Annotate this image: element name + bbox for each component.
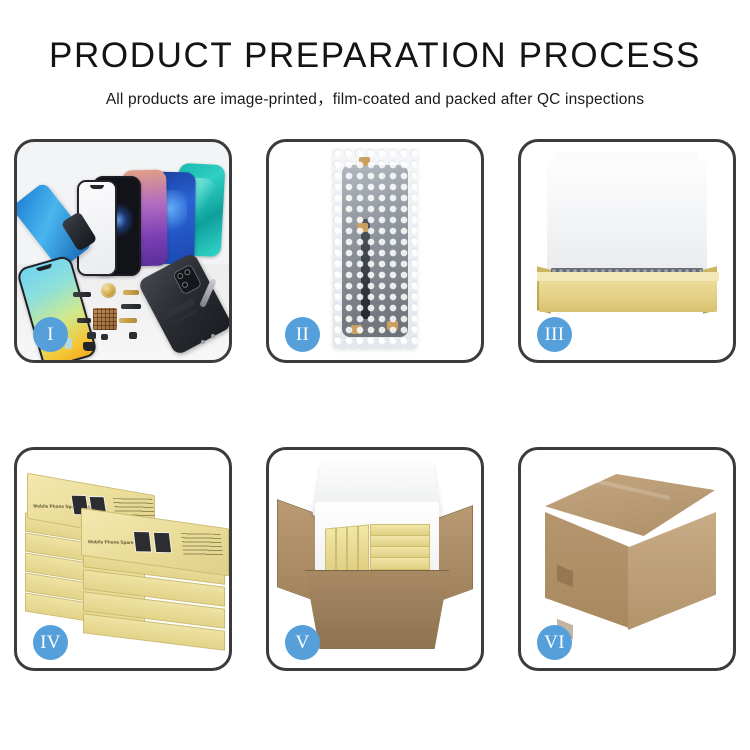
step-badge-2: II xyxy=(285,317,320,352)
part-flex-cable-gold xyxy=(123,290,139,295)
box-thumb-front-2 xyxy=(153,532,172,554)
box-spec-text-front xyxy=(181,533,223,556)
step-tile-6[interactable]: VI xyxy=(518,447,736,671)
wrapped-flex-cable xyxy=(361,219,370,319)
step-tile-4[interactable]: Mobile Phone Spare Parts Mobile Phone Sp… xyxy=(14,447,232,671)
page-subtitle: All products are image-printed，film-coat… xyxy=(0,87,750,109)
page-header: PRODUCT PREPARATION PROCESS All products… xyxy=(0,0,750,109)
step-tile-2[interactable]: II xyxy=(266,139,484,363)
step-badge-6: VI xyxy=(537,625,572,660)
carton-body xyxy=(305,570,449,649)
step-tile-3[interactable]: III xyxy=(518,139,736,363)
part-speaker xyxy=(83,342,95,351)
part-logic-board xyxy=(93,308,117,330)
part-chip-3 xyxy=(129,332,137,339)
tape-tab-top xyxy=(359,157,370,166)
inner-yellow-box-8 xyxy=(370,557,430,570)
box-thumb-front-1 xyxy=(133,531,152,553)
wrapped-screen xyxy=(342,165,408,337)
kraft-box-base xyxy=(539,274,717,312)
foam-sheet xyxy=(549,196,705,258)
inner-yellow-box-4 xyxy=(358,524,369,571)
part-flex-cable-3 xyxy=(77,318,91,323)
process-steps-grid: I II III xyxy=(14,139,736,671)
part-flex-cable-4 xyxy=(119,318,137,323)
step-tile-5[interactable]: V xyxy=(266,447,484,671)
inner-yellow-box-2 xyxy=(336,526,347,573)
bubble-wrap-bag xyxy=(333,149,417,349)
tape-tab-bottom-left xyxy=(351,325,362,334)
camera-module-icon xyxy=(172,264,202,296)
part-screw-1 xyxy=(211,334,215,338)
inner-yellow-box-3 xyxy=(347,525,358,572)
part-chip-2 xyxy=(101,334,108,340)
step-badge-4: IV xyxy=(33,625,68,660)
step-badge-5: V xyxy=(285,625,320,660)
part-coil xyxy=(101,283,116,298)
part-flex-cable-1 xyxy=(73,292,91,297)
part-flex-cable-2 xyxy=(121,304,141,309)
step-badge-1: I xyxy=(33,317,68,352)
step-tile-1[interactable]: I xyxy=(14,139,232,363)
part-chip-1 xyxy=(87,332,96,339)
part-screw-2 xyxy=(201,340,205,344)
page-title: PRODUCT PREPARATION PROCESS xyxy=(0,38,750,73)
inner-yellow-box-1 xyxy=(325,527,336,574)
step-badge-3: III xyxy=(537,317,572,352)
tape-tab-mid xyxy=(357,223,368,232)
housing-strip xyxy=(162,298,195,320)
tape-tab-bottom-right xyxy=(387,321,398,330)
